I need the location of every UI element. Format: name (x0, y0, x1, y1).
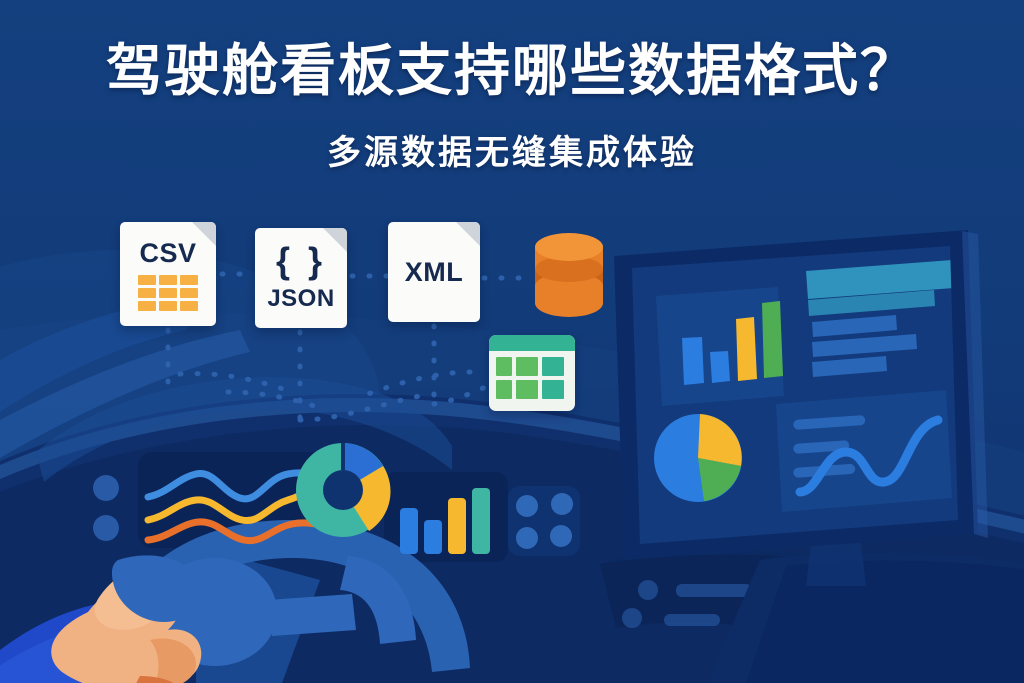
page-fold-corner (323, 228, 347, 252)
donut-hole (323, 470, 363, 510)
cockpit-bar-4 (472, 488, 490, 554)
poster-canvas: 驾驶舱看板支持哪些数据格式？ 多源数据无缝集成体验 CSV { } JSON X… (0, 0, 1024, 683)
spreadsheet-header (489, 335, 575, 351)
database-icon[interactable] (531, 225, 607, 325)
xml-label: XML (405, 257, 464, 288)
csv-file-icon[interactable]: CSV (120, 222, 216, 326)
page-fold-corner (192, 222, 216, 246)
json-label: JSON (267, 285, 334, 313)
cockpit-bar-1 (400, 508, 418, 554)
bar-chart-widget (400, 488, 490, 554)
cockpit-bar-3 (448, 498, 466, 554)
donut-chart-widget (296, 443, 391, 537)
csv-label: CSV (139, 238, 196, 269)
csv-grid-icon (138, 275, 198, 311)
page-fold-corner (456, 222, 480, 246)
cockpit-bar-2 (424, 520, 442, 554)
json-file-icon[interactable]: { } JSON (255, 228, 347, 328)
json-braces-glyph: { } (276, 243, 326, 279)
xml-file-icon[interactable]: XML (388, 222, 480, 322)
spreadsheet-icon[interactable] (489, 335, 575, 411)
spreadsheet-cells (489, 351, 575, 399)
